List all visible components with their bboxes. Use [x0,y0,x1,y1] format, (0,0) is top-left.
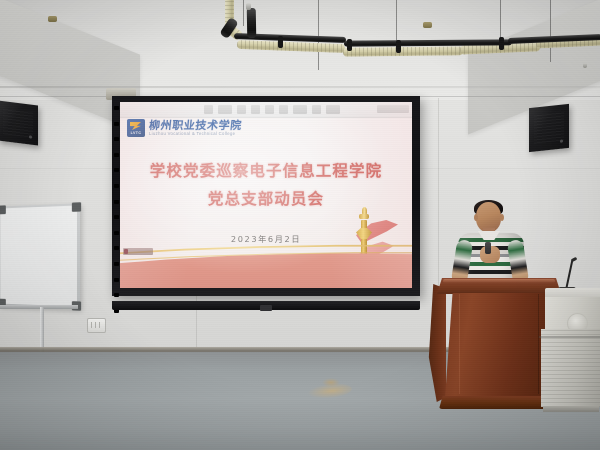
cabinet-upper-panel [545,297,600,329]
pipe-hanger-5 [550,0,551,62]
presenter-ear-left [474,214,478,221]
slide-taskbar-chip[interactable] [123,248,153,255]
pipe-clamp-4 [499,37,504,50]
wall-outlet[interactable] [87,318,106,333]
logo-abbr: LVTC [131,132,142,137]
slide-title-line-1: 学校党委巡察电子信息工程学院 [120,162,412,181]
pillar-wing-icon [356,228,372,239]
sprinkler-head-2 [583,63,587,68]
speaker-grille-icon [534,111,564,144]
outlet-slots-icon [91,322,101,328]
slide-title-block: 学校党委巡察电子信息工程学院 党总支部动员会 [120,162,412,210]
whiteboard-frame [0,203,80,309]
cabinet-shelf-line [539,336,600,338]
cabinet-foot [543,406,599,412]
toolbar-button[interactable] [293,105,307,114]
speaker-grille-icon [3,107,33,138]
pillar-cap-icon [359,214,369,219]
cabinet-lower-panel [541,329,600,407]
conduit-run-2 [344,39,512,46]
lvtc-logo-icon: LVTC [127,119,145,137]
institution-name-cn: 柳州职业技术学院 [148,120,242,131]
presentation-toolbar[interactable] [120,102,412,118]
whiteboard-corner-tr [72,202,81,212]
podium-body [445,293,553,398]
toolbar-button[interactable] [204,105,213,114]
pipe-clamp-1 [278,36,283,48]
handheld-microphone-icon [485,242,491,254]
screen-eyelet-strip [114,106,119,290]
podium-seam-left [459,294,460,394]
speaker-led-icon [29,136,32,139]
pipe-hanger-1 [243,0,244,26]
wall-speaker-left [0,101,38,146]
whiteboard-corner-tl [0,205,6,214]
projection-screen-assembly: LVTC 柳州职业技术学院 Liuzhou Vocational & Techn… [112,96,420,302]
toolbar-account-chip[interactable] [377,105,409,113]
institution-name-block: 柳州职业技术学院 Liuzhou Vocational & Technical … [149,120,242,137]
ceiling-fixture-left [48,16,57,22]
toolbar-button[interactable] [218,105,232,114]
toolbar-button[interactable] [326,105,340,114]
toolbar-button[interactable] [265,105,274,114]
podium-seam-right [538,294,539,394]
wall-speaker-right [529,104,569,152]
duct-pipe-run-2 [343,46,463,56]
toolbar-button[interactable] [251,105,260,114]
presentation-slide: LVTC 柳州职业技术学院 Liuzhou Vocational & Techn… [120,102,412,288]
floor-stain-secondary [322,378,340,387]
pipe-clamp-2 [347,39,352,51]
screen-pull-knob[interactable] [260,305,272,311]
presenter-ear-right [500,214,504,221]
toolbar-button-group[interactable] [120,105,340,114]
podium-top [437,278,561,294]
institution-name-en: Liuzhou Vocational & Technical College [149,132,242,136]
logo-swoosh-icon [130,122,141,130]
podium-top-highlight [443,279,555,283]
sprinkler-head-1 [246,3,251,10]
conference-room-scene: LVTC 柳州职业技术学院 Liuzhou Vocational & Techn… [0,0,600,450]
conduit-branch-vertical [247,8,257,38]
toolbar-button[interactable] [237,105,246,114]
pipe-clamp-3 [396,40,401,53]
institution-logo: LVTC 柳州职业技术学院 Liuzhou Vocational & Techn… [127,119,242,137]
whiteboard-surface [0,205,77,306]
projection-screen-border: LVTC 柳州职业技术学院 Liuzhou Vocational & Techn… [112,96,420,296]
equipment-cabinet [545,288,600,414]
speaker-led-icon [560,139,563,142]
ceiling-fixture-right [423,22,432,28]
toolbar-button[interactable] [312,105,321,114]
ceiling-wall-edge [0,86,600,88]
toolbar-button[interactable] [279,105,288,114]
